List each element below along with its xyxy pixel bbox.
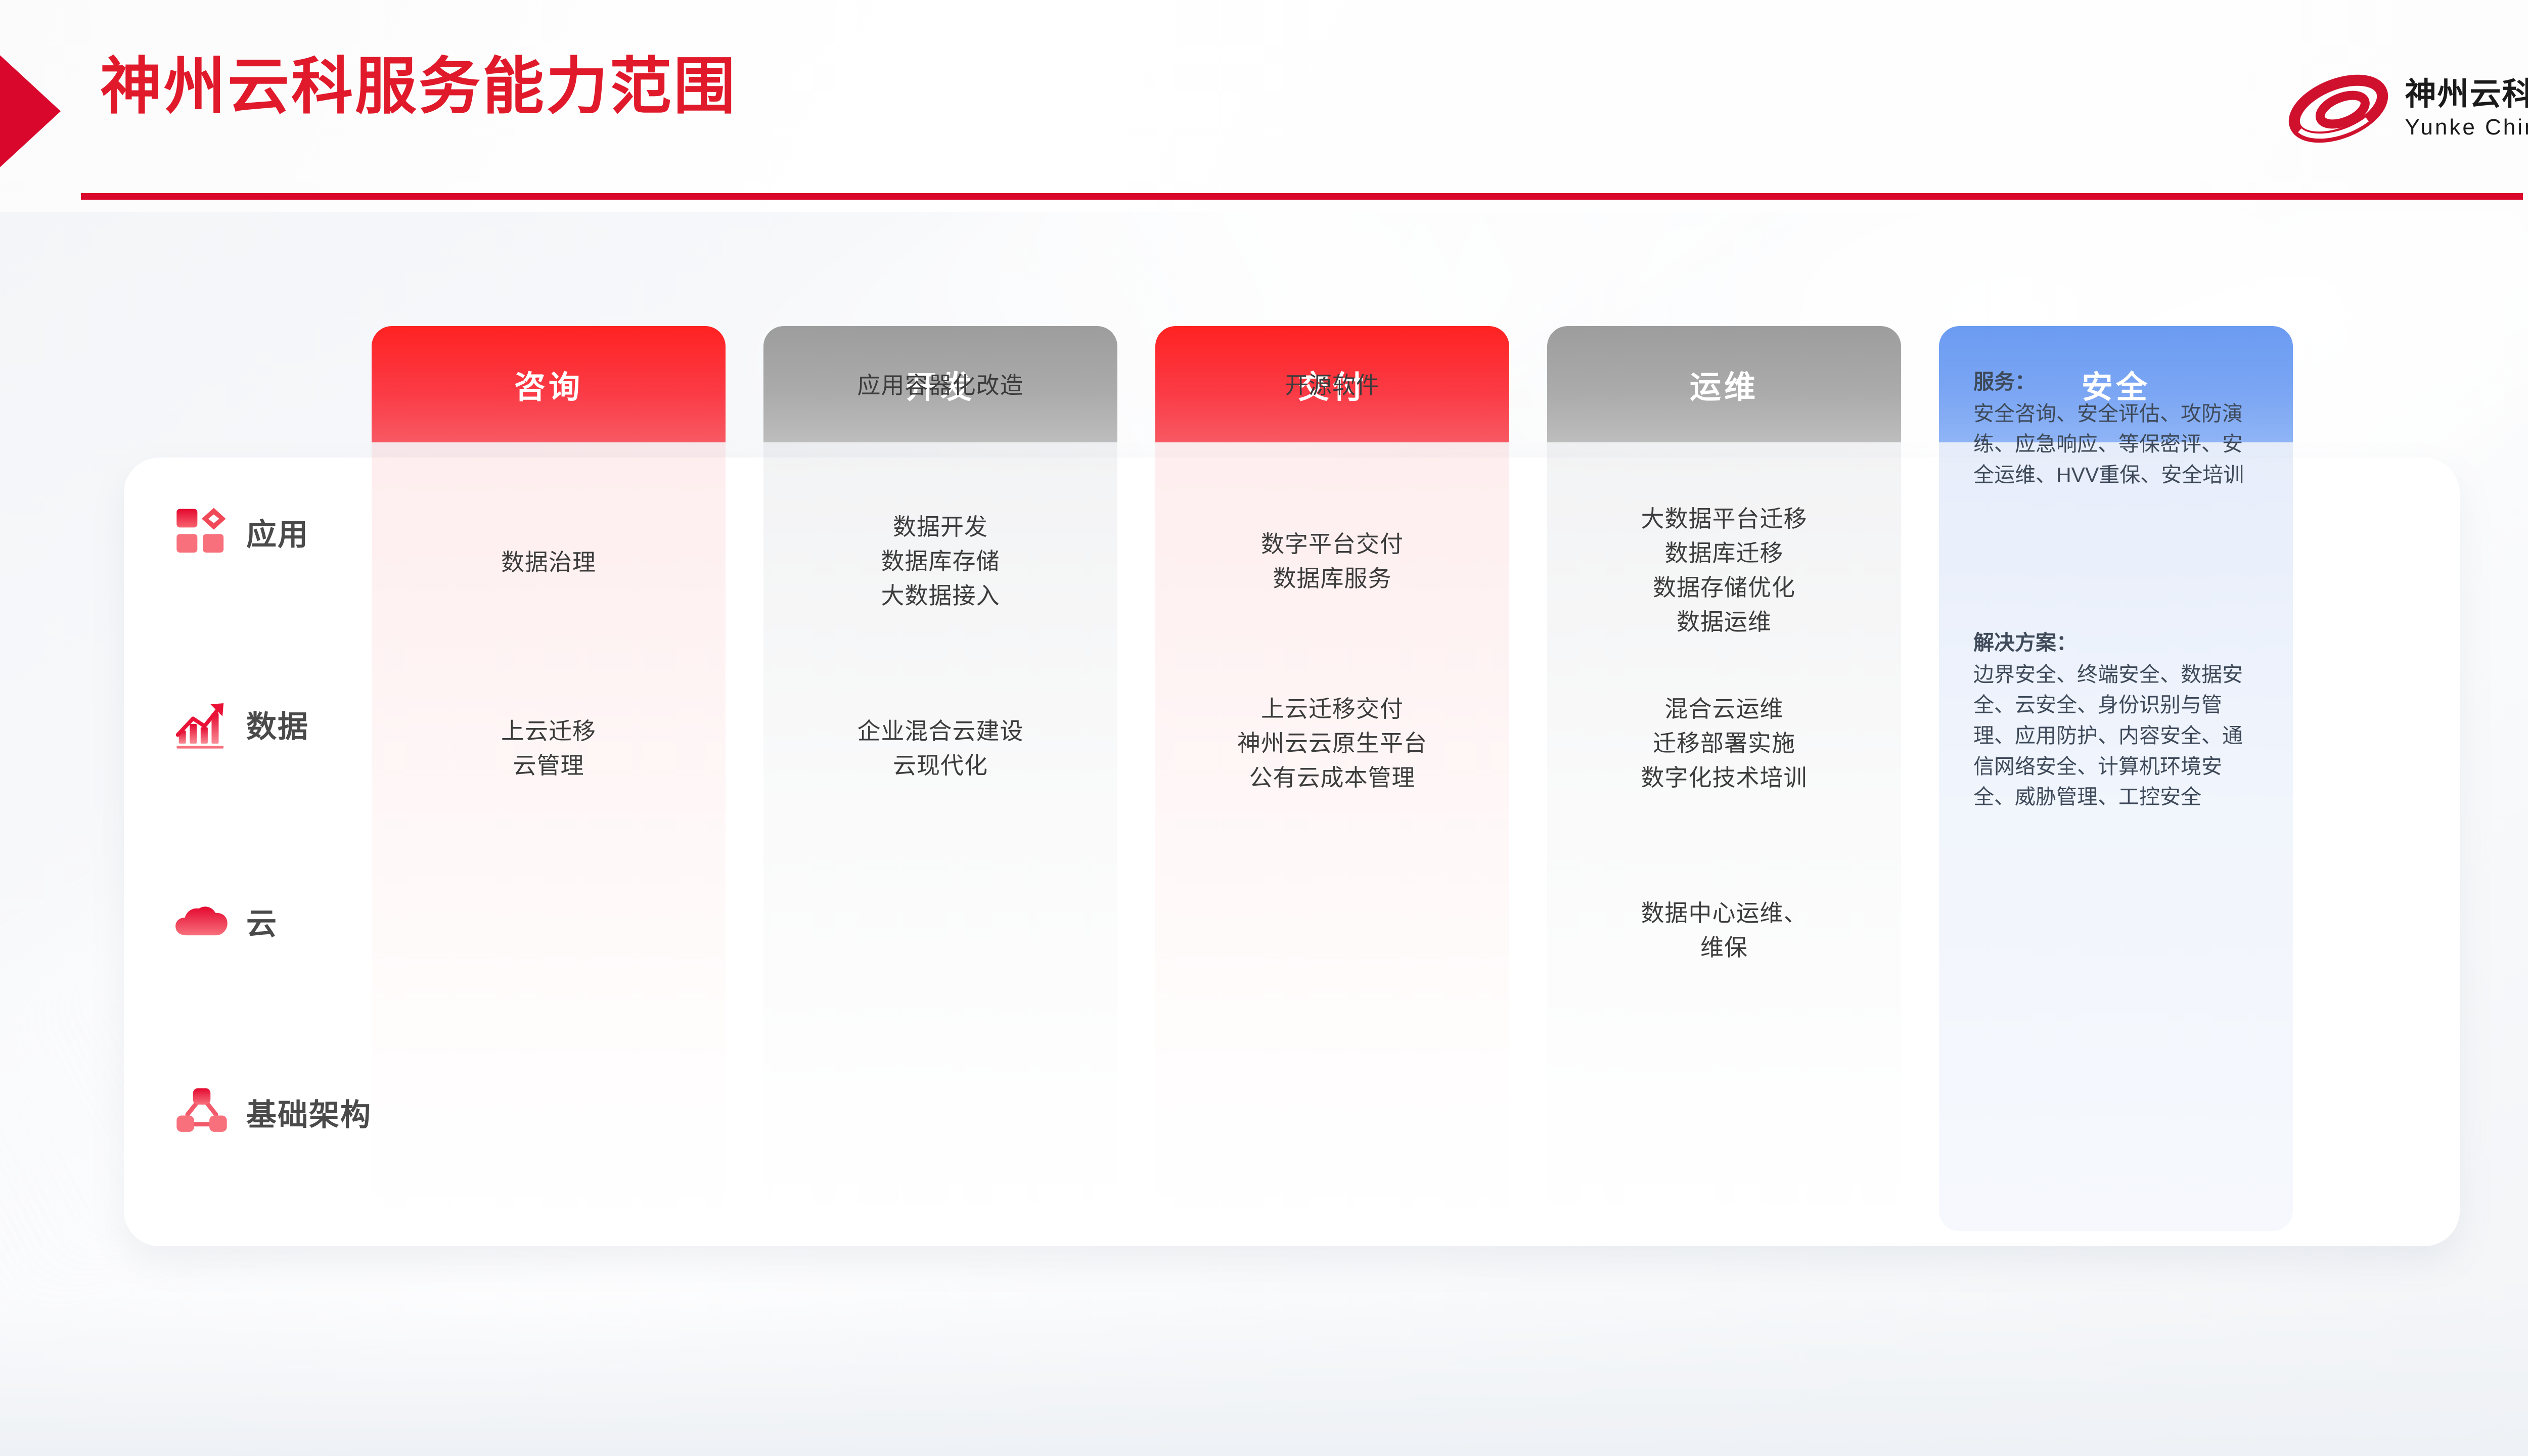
cell-line: 云管理 [513, 748, 584, 783]
matrix-cell: 数字平台交付 数据库服务 [1155, 503, 1509, 619]
matrix-cell: 上云迁移交付 神州云云原生平台 公有云成本管理 [1155, 670, 1509, 816]
brand-logo: 神州云科 Yunke China [2285, 71, 2528, 147]
matrix-row-label-data: 数据 [174, 676, 309, 772]
cell-line: 混合云运维 [1665, 692, 1784, 726]
swirl-at-logo-mark-icon [2285, 71, 2391, 147]
cell-line: 大数据平台迁移 [1641, 502, 1808, 536]
cell-line: 数据存储优化 [1653, 570, 1795, 605]
cell-line: 云现代化 [893, 748, 988, 783]
bar-chart-trend-icon [174, 697, 229, 751]
content-stage: 应用 数据 [0, 212, 2528, 1456]
matrix-cell: 企业混合云建设 云现代化 [763, 690, 1117, 806]
cell-line: 数字化技术培训 [1641, 760, 1808, 795]
matrix-cell: 应用容器化改造 [763, 337, 1117, 433]
matrix-column-body [1939, 442, 2293, 1231]
cell-line: 数据运维 [1677, 605, 1772, 639]
matrix-cell: 上云迁移 云管理 [372, 690, 726, 806]
matrix-column-header[interactable]: 运维 [1547, 326, 1901, 442]
matrix-cell: 开源软件 [1155, 337, 1509, 433]
security-services-block: 服务： 安全咨询、安全评估、攻防演练、应急响应、等保密评、安全运维、HVV重保、… [1973, 367, 2256, 490]
matrix-column-consulting[interactable]: 咨询 数据治理 上云迁移 云管理 [372, 326, 726, 1231]
matrix-cell: 大数据平台迁移 数据库迁移 数据存储优化 数据运维 [1547, 477, 1901, 664]
matrix-cell: 数据治理 [372, 514, 726, 610]
matrix-row-label-cloud: 云 [174, 873, 278, 969]
matrix-cell: 混合云运维 迁移部署实施 数字化技术培训 [1547, 670, 1901, 816]
cell-line: 数据库服务 [1273, 561, 1392, 596]
security-services-heading: 服务： [1973, 367, 2256, 397]
matrix-column-development[interactable]: 开发 应用容器化改造 数据开发 数据库存储 大数据接入 企业混合云建设 云现代化 [763, 326, 1117, 1231]
cell-line: 数据开发 [893, 510, 988, 544]
cell-line: 数据中心运维、 [1641, 896, 1808, 930]
logo-name-en: Yunke China [2405, 116, 2528, 139]
cell-line: 应用容器化改造 [857, 368, 1024, 402]
cell-line: 数据库存储 [881, 544, 1000, 578]
matrix-row-label-text: 基础架构 [246, 1090, 372, 1134]
header-divider-rule [81, 193, 2523, 200]
matrix-row-label-text: 应用 [246, 510, 309, 554]
matrix-column-delivery[interactable]: 交付 开源软件 数字平台交付 数据库服务 上云迁移交付 神州云云原生平台 公有云… [1155, 326, 1509, 1231]
matrix-cell: 数据开发 数据库存储 大数据接入 [763, 488, 1117, 634]
network-nodes-icon [174, 1085, 229, 1140]
cell-line: 维保 [1700, 930, 1748, 965]
logo-name-cn: 神州云科 [2405, 79, 2528, 110]
header-arrow-marker-icon [0, 51, 61, 172]
matrix-cell: 数据中心运维、 维保 [1547, 872, 1901, 988]
matrix-column-operations[interactable]: 运维 大数据平台迁移 数据库迁移 数据存储优化 数据运维 混合云运维 迁移部署实… [1547, 326, 1901, 1231]
cell-line: 大数据接入 [881, 578, 1000, 613]
matrix-column-header[interactable]: 咨询 [372, 326, 726, 442]
cell-line: 开源软件 [1285, 368, 1380, 402]
matrix-row-label-infrastructure: 基础架构 [174, 1064, 372, 1160]
cell-line: 迁移部署实施 [1653, 726, 1795, 760]
cell-line: 企业混合云建设 [857, 714, 1024, 748]
app-blocks-icon [174, 505, 229, 559]
cell-line: 数据治理 [501, 545, 596, 579]
security-solutions-body: 边界安全、终端安全、数据安全、云安全、身份识别与管理、应用防护、内容安全、通信网… [1973, 659, 2256, 812]
matrix-row-label-text: 云 [246, 899, 278, 943]
cell-line: 数字平台交付 [1261, 527, 1404, 561]
cell-line: 上云迁移 [501, 714, 596, 748]
page-header: 神州云科服务能力范围 神州云科 Yunke China [0, 0, 2528, 212]
matrix-column-security[interactable]: 安全 服务： 安全咨询、安全评估、攻防演练、应急响应、等保密评、安全运维、HVV… [1939, 326, 2293, 1231]
matrix-row-label-column: 应用 数据 [124, 458, 336, 1246]
cloud-icon [174, 894, 229, 948]
matrix-row-label-app: 应用 [174, 484, 309, 580]
cell-line: 神州云云原生平台 [1237, 726, 1427, 760]
cell-line: 数据库迁移 [1665, 536, 1784, 570]
cell-line: 上云迁移交付 [1261, 692, 1404, 726]
security-solutions-heading: 解决方案： [1973, 627, 2256, 658]
capability-matrix: 应用 数据 [124, 458, 2460, 1246]
security-services-body: 安全咨询、安全评估、攻防演练、应急响应、等保密评、安全运维、HVV重保、安全培训 [1973, 398, 2256, 490]
page-title: 神州云科服务能力范围 [100, 56, 737, 117]
security-solutions-block: 解决方案： 边界安全、终端安全、数据安全、云安全、身份识别与管理、应用防护、内容… [1973, 627, 2256, 812]
cell-line: 公有云成本管理 [1249, 760, 1416, 795]
stage-bottom-fade [0, 1294, 2528, 1456]
matrix-row-label-text: 数据 [246, 702, 309, 746]
